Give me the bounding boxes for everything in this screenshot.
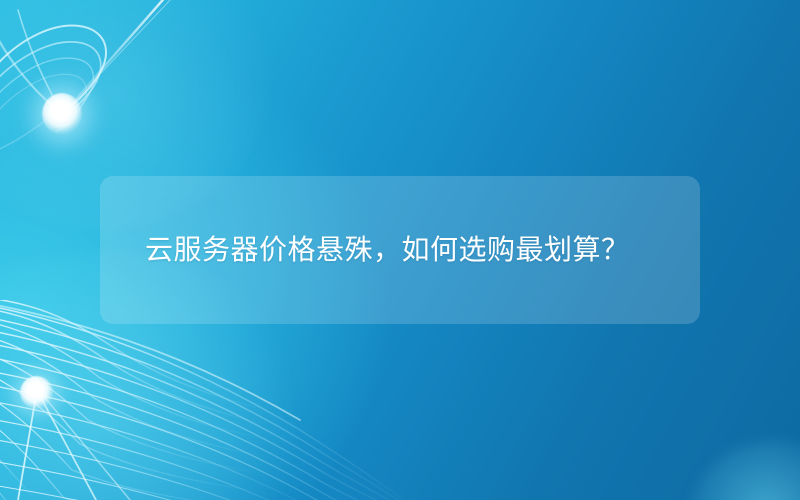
promo-banner: 云服务器价格悬殊，如何选购最划算？ xyxy=(0,0,800,500)
bottom-right-glow xyxy=(690,440,800,500)
glowing-node-icon xyxy=(42,93,82,135)
glowing-node-icon xyxy=(20,376,53,409)
headline-title: 云服务器价格悬殊，如何选购最划算？ xyxy=(145,231,630,269)
headline-card: 云服务器价格悬殊，如何选购最划算？ xyxy=(100,176,700,324)
